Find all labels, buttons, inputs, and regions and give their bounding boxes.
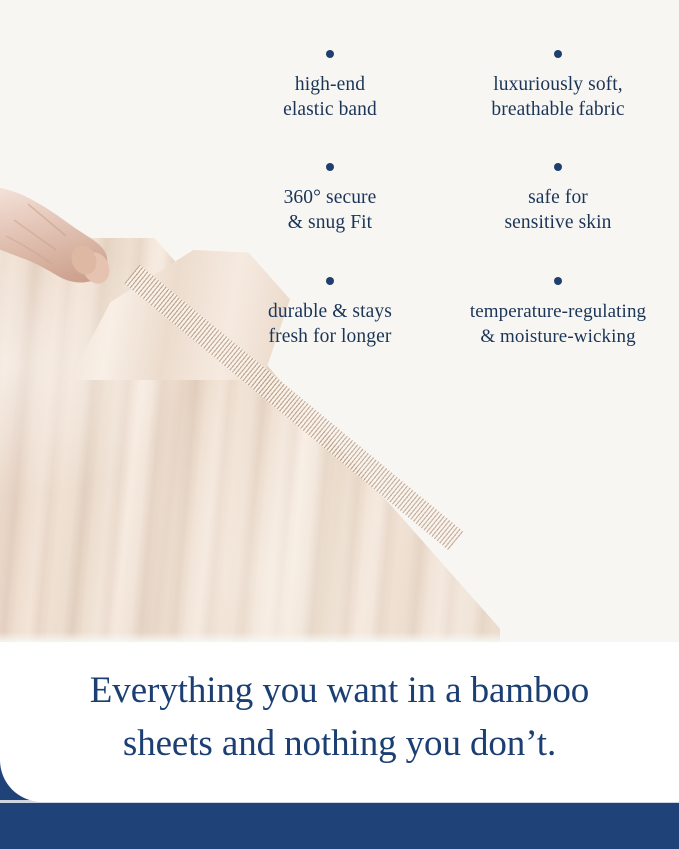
feature-label: temperature-regulating & moisture-wickin… xyxy=(470,299,646,349)
bullet-dot-icon xyxy=(326,163,334,171)
feature-item-luxuriously-soft-breathable-fabric: luxuriously soft, breathable fabric xyxy=(446,44,670,157)
headline-panel: Everything you want in a bamboo sheets a… xyxy=(0,642,679,802)
feature-item-high-end-elastic-band: high-end elastic band xyxy=(218,44,442,157)
bullet-dot-icon xyxy=(554,277,562,285)
feature-grid: high-end elastic band luxuriously soft, … xyxy=(218,44,670,384)
promo-image: high-end elastic band luxuriously soft, … xyxy=(0,0,679,849)
feature-label: durable & stays fresh for longer xyxy=(268,299,392,349)
feature-label: 360° secure & snug Fit xyxy=(284,185,377,235)
feature-label: safe for sensitive skin xyxy=(504,185,611,235)
bullet-dot-icon xyxy=(554,50,562,58)
feature-label: high-end elastic band xyxy=(283,72,377,122)
feature-label: luxuriously soft, breathable fabric xyxy=(491,72,624,122)
hand-illustration xyxy=(0,182,190,307)
bullet-dot-icon xyxy=(326,277,334,285)
feature-item-temperature-regulating-moisture-wicking: temperature-regulating & moisture-wickin… xyxy=(446,271,670,384)
headline-text: Everything you want in a bamboo sheets a… xyxy=(10,664,670,780)
bullet-dot-icon xyxy=(326,50,334,58)
feature-item-durable-stays-fresh-for-longer: durable & stays fresh for longer xyxy=(218,271,442,384)
feature-item-safe-for-sensitive-skin: safe for sensitive skin xyxy=(446,157,670,270)
bullet-dot-icon xyxy=(554,163,562,171)
feature-item-360-secure-snug-fit: 360° secure & snug Fit xyxy=(218,157,442,270)
